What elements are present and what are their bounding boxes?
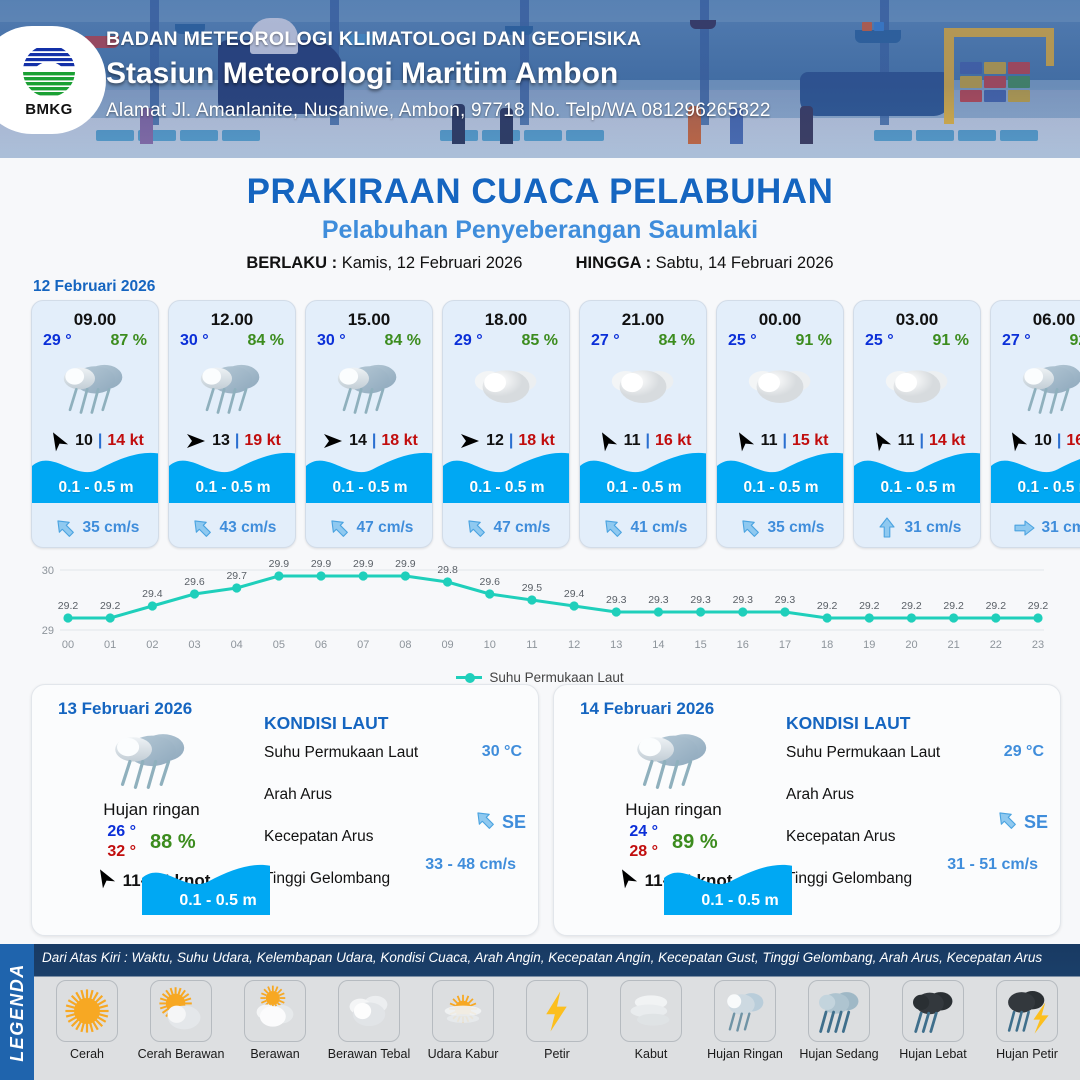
card-wave-height: 0.1 - 0.5 m bbox=[854, 479, 981, 497]
sun-cloud-icon bbox=[150, 980, 212, 1042]
sst-value: 29 °C bbox=[1004, 743, 1044, 761]
svg-text:21: 21 bbox=[948, 639, 960, 651]
card-air-temperature: 25 ° bbox=[865, 332, 894, 350]
card-time: 09.00 bbox=[32, 310, 158, 330]
legend-item: Hujan Petir bbox=[980, 980, 1074, 1061]
svg-text:29.2: 29.2 bbox=[986, 600, 1007, 612]
panel-temp-min: 24 ° bbox=[629, 823, 658, 841]
sst-label: Suhu Permukaan Laut bbox=[786, 744, 940, 762]
hourly-card: 06.00 27 ° 92 % bbox=[990, 300, 1080, 548]
legend-item-label: Cerah bbox=[70, 1047, 104, 1061]
svg-text:00: 00 bbox=[62, 639, 74, 651]
card-current-speed: 47 cm/s bbox=[357, 519, 414, 537]
legend-item-label: Berawan Tebal bbox=[328, 1047, 410, 1061]
card-current-row: 31 cm/s bbox=[854, 516, 981, 540]
sst-row: Suhu Permukaan Laut 30 °C bbox=[264, 738, 530, 780]
valid-from-value: Kamis, 12 Februari 2026 bbox=[342, 254, 523, 272]
svg-text:05: 05 bbox=[273, 639, 285, 651]
svg-text:07: 07 bbox=[357, 639, 369, 651]
card-wave-block: 0.1 - 0.5 m bbox=[169, 447, 296, 503]
card-air-temperature: 29 ° bbox=[43, 332, 72, 350]
legend-side-text: LEGENDA bbox=[7, 963, 28, 1062]
haze-icon bbox=[432, 980, 494, 1042]
card-current-speed: 35 cm/s bbox=[83, 519, 140, 537]
svg-text:14: 14 bbox=[652, 639, 664, 651]
chart-legend: Suhu Permukaan Laut bbox=[0, 670, 1080, 685]
legend-items: Cerah Cerah Berawan Berawan Berawan Teba… bbox=[40, 980, 1074, 1061]
card-humidity: 84 % bbox=[248, 332, 284, 350]
panel-date: 13 Februari 2026 bbox=[58, 699, 192, 719]
card-temp-hum-row: 29 ° 87 % bbox=[32, 330, 158, 350]
svg-text:29.6: 29.6 bbox=[184, 576, 205, 588]
legend-caption: Dari Atas Kiri : Waktu, Suhu Udara, Kele… bbox=[42, 950, 1072, 965]
svg-text:29.2: 29.2 bbox=[1028, 600, 1049, 612]
current-direction-arrow-icon bbox=[53, 516, 77, 540]
hourly-card: 15.00 30 ° 84 % bbox=[305, 300, 433, 548]
legend-body: Dari Atas Kiri : Waktu, Suhu Udara, Kele… bbox=[34, 944, 1080, 1080]
legend-item: Hujan Ringan bbox=[698, 980, 792, 1061]
card-humidity: 84 % bbox=[385, 332, 421, 350]
card-air-temperature: 30 ° bbox=[180, 332, 209, 350]
legend-item-label: Hujan Sedang bbox=[799, 1047, 878, 1061]
panel-weather-icon bbox=[44, 723, 259, 797]
card-weather-icon bbox=[306, 351, 432, 425]
thunderstorm-icon bbox=[996, 980, 1058, 1042]
hourly-card: 21.00 27 ° 84 % 11 | 16 kt 0.1 - 0.5 m bbox=[579, 300, 707, 548]
page-subtitle: Pelabuhan Penyeberangan Saumlaki bbox=[0, 216, 1080, 245]
panel-weather-icon bbox=[566, 723, 781, 797]
current-direction-arrow-icon bbox=[601, 516, 625, 540]
svg-text:29.6: 29.6 bbox=[480, 576, 501, 588]
svg-text:13: 13 bbox=[610, 639, 622, 651]
sst-row: Suhu Permukaan Laut 29 °C bbox=[786, 738, 1052, 780]
legend-item: Cerah Berawan bbox=[134, 980, 228, 1061]
legend-item: Petir bbox=[510, 980, 604, 1061]
card-time: 00.00 bbox=[717, 310, 843, 330]
bmkg-logo-text: BMKG bbox=[25, 101, 72, 118]
current-direction-arrow-icon bbox=[1012, 516, 1036, 540]
card-wave-block: 0.1 - 0.5 m bbox=[306, 447, 433, 503]
svg-text:29.2: 29.2 bbox=[817, 600, 838, 612]
legend-item-label: Petir bbox=[544, 1047, 570, 1061]
card-humidity: 84 % bbox=[659, 332, 695, 350]
svg-text:29.9: 29.9 bbox=[269, 558, 290, 570]
card-temp-hum-row: 25 ° 91 % bbox=[854, 330, 980, 350]
svg-text:29.4: 29.4 bbox=[142, 588, 163, 600]
chart-legend-marker bbox=[456, 676, 482, 679]
card-weather-icon bbox=[717, 351, 843, 425]
svg-text:30: 30 bbox=[42, 565, 54, 577]
current-direction-arrow-icon bbox=[738, 516, 762, 540]
panel-date: 14 Februari 2026 bbox=[580, 699, 714, 719]
card-air-temperature: 27 ° bbox=[1002, 332, 1031, 350]
legend-item: Hujan Sedang bbox=[792, 980, 886, 1061]
card-wave-block: 0.1 - 0.5 m bbox=[443, 447, 570, 503]
svg-text:29.9: 29.9 bbox=[353, 558, 374, 570]
panel-temp-column: 26 ° 32 ° bbox=[107, 823, 136, 861]
svg-text:29.7: 29.7 bbox=[226, 570, 247, 582]
chart-legend-label: Suhu Permukaan Laut bbox=[489, 670, 623, 685]
svg-text:29.3: 29.3 bbox=[606, 594, 627, 606]
card-wave-block: 0.1 - 0.5 m bbox=[32, 447, 159, 503]
hourly-card: 18.00 29 ° 85 % 12 | 18 kt 0.1 - 0.5 m bbox=[442, 300, 570, 548]
current-speed-label: Kecepatan Arus bbox=[786, 828, 895, 846]
card-air-temperature: 27 ° bbox=[591, 332, 620, 350]
legend-item-label: Hujan Ringan bbox=[707, 1047, 783, 1061]
card-current-row: 47 cm/s bbox=[443, 516, 570, 540]
sea-conditions-title: KONDISI LAUT bbox=[786, 713, 1052, 734]
card-current-row: 35 cm/s bbox=[32, 516, 159, 540]
svg-text:03: 03 bbox=[188, 639, 200, 651]
legend-item-label: Berawan bbox=[250, 1047, 299, 1061]
panel-temps-row: 24 ° 28 ° 89 % bbox=[566, 823, 781, 861]
svg-text:19: 19 bbox=[863, 639, 875, 651]
card-time: 06.00 bbox=[991, 310, 1080, 330]
svg-text:02: 02 bbox=[146, 639, 158, 651]
hourly-card: 09.00 29 ° 87 % bbox=[31, 300, 159, 548]
svg-text:18: 18 bbox=[821, 639, 833, 651]
bmkg-logo: BMKG bbox=[0, 26, 106, 134]
sst-value: 30 °C bbox=[482, 743, 522, 761]
card-wave-height: 0.1 - 0.5 m bbox=[580, 479, 707, 497]
card-time: 15.00 bbox=[306, 310, 432, 330]
current-direction-row: Arah Arus SE bbox=[786, 780, 1052, 822]
panel-condition-label: Hujan ringan bbox=[44, 800, 259, 820]
card-current-row: 47 cm/s bbox=[306, 516, 433, 540]
card-time: 12.00 bbox=[169, 310, 295, 330]
title-block: PRAKIRAAN CUACA PELABUHAN Pelabuhan Peny… bbox=[0, 158, 1080, 273]
panel-condition-label: Hujan ringan bbox=[566, 800, 781, 820]
hourly-forecast-cards: 09.00 29 ° 87 % bbox=[31, 300, 1080, 548]
svg-text:29.4: 29.4 bbox=[564, 588, 585, 600]
svg-text:20: 20 bbox=[905, 639, 917, 651]
card-time: 18.00 bbox=[443, 310, 569, 330]
svg-text:15: 15 bbox=[694, 639, 706, 651]
svg-text:11: 11 bbox=[526, 639, 537, 651]
card-current-speed: 35 cm/s bbox=[768, 519, 825, 537]
wind-direction-arrow-icon bbox=[93, 867, 117, 894]
svg-text:29.3: 29.3 bbox=[733, 594, 754, 606]
card-air-temperature: 30 ° bbox=[317, 332, 346, 350]
legend-item: Udara Kabur bbox=[416, 980, 510, 1061]
panel-temp-max: 28 ° bbox=[629, 843, 658, 861]
legend-item-label: Hujan Petir bbox=[996, 1047, 1058, 1061]
svg-text:29.9: 29.9 bbox=[395, 558, 416, 570]
card-temp-hum-row: 30 ° 84 % bbox=[169, 330, 295, 350]
svg-text:29.2: 29.2 bbox=[859, 600, 880, 612]
valid-from-label: BERLAKU : bbox=[246, 254, 337, 272]
svg-text:29.2: 29.2 bbox=[901, 600, 922, 612]
legend-item-label: Hujan Lebat bbox=[899, 1047, 966, 1061]
panel-wave-block: 0.1 - 0.5 m bbox=[142, 863, 294, 915]
card-wave-block: 0.1 - 0.5 m bbox=[717, 447, 844, 503]
card-time: 03.00 bbox=[854, 310, 980, 330]
svg-text:29.3: 29.3 bbox=[690, 594, 711, 606]
card-wave-block: 0.1 - 0.5 m bbox=[580, 447, 707, 503]
sun-icon bbox=[56, 980, 118, 1042]
card-humidity: 92 % bbox=[1070, 332, 1080, 350]
page-header: BMKG BADAN METEOROLOGI KLIMATOLOGI DAN G… bbox=[0, 0, 1080, 158]
header-text-block: BADAN METEOROLOGI KLIMATOLOGI DAN GEOFIS… bbox=[106, 28, 771, 122]
daily-forecast-panels: 13 Februari 2026 Hujan ringan bbox=[31, 684, 1061, 936]
panel-temp-min: 26 ° bbox=[107, 823, 136, 841]
panel-humidity: 89 % bbox=[672, 831, 718, 854]
svg-text:29: 29 bbox=[42, 625, 54, 637]
panel-wave-height-value: 0.1 - 0.5 m bbox=[142, 892, 294, 910]
card-wave-height: 0.1 - 0.5 m bbox=[717, 479, 844, 497]
svg-text:29.5: 29.5 bbox=[522, 582, 543, 594]
svg-text:06: 06 bbox=[315, 639, 327, 651]
valid-until-label: HINGGA : bbox=[576, 254, 651, 272]
card-humidity: 85 % bbox=[522, 332, 558, 350]
card-current-speed: 31 cm/s bbox=[905, 519, 962, 537]
agency-name: BADAN METEOROLOGI KLIMATOLOGI DAN GEOFIS… bbox=[106, 28, 771, 51]
svg-text:04: 04 bbox=[231, 639, 243, 651]
panel-humidity: 88 % bbox=[150, 831, 196, 854]
card-humidity: 91 % bbox=[796, 332, 832, 350]
light-rain-icon bbox=[714, 980, 776, 1042]
cloud-sun-small-icon bbox=[244, 980, 306, 1042]
clouds-icon bbox=[338, 980, 400, 1042]
card-current-row: 31 cm/s bbox=[991, 516, 1080, 540]
legend-side-label: LEGENDA bbox=[0, 944, 34, 1080]
panel-wave-block: 0.1 - 0.5 m bbox=[664, 863, 816, 915]
card-wave-height: 0.1 - 0.5 m bbox=[32, 479, 159, 497]
daily-forecast-panel: 13 Februari 2026 Hujan ringan bbox=[31, 684, 539, 936]
card-current-speed: 47 cm/s bbox=[494, 519, 551, 537]
current-direction-arrow-icon bbox=[327, 516, 351, 540]
card-current-row: 35 cm/s bbox=[717, 516, 844, 540]
svg-text:16: 16 bbox=[737, 639, 749, 651]
sst-chart: 293029.20029.20129.40229.60329.70429.905… bbox=[28, 556, 1052, 676]
svg-text:29.3: 29.3 bbox=[648, 594, 669, 606]
current-direction-label: Arah Arus bbox=[786, 786, 854, 804]
svg-text:29.3: 29.3 bbox=[775, 594, 796, 606]
card-temp-hum-row: 27 ° 92 % bbox=[991, 330, 1080, 350]
card-temp-hum-row: 29 ° 85 % bbox=[443, 330, 569, 350]
panel-sea-conditions: KONDISI LAUT Suhu Permukaan Laut 30 °C A… bbox=[264, 713, 530, 906]
current-direction-label: Arah Arus bbox=[264, 786, 332, 804]
card-wave-height: 0.1 - 0.5 m bbox=[443, 479, 570, 497]
bmkg-logo-mark bbox=[20, 42, 78, 100]
svg-text:29.2: 29.2 bbox=[943, 600, 964, 612]
validity-line: BERLAKU : Kamis, 12 Februari 2026 HINGGA… bbox=[0, 254, 1080, 273]
svg-text:29.8: 29.8 bbox=[437, 564, 458, 576]
legend-item: Berawan bbox=[228, 980, 322, 1061]
card-current-speed: 43 cm/s bbox=[220, 519, 277, 537]
svg-text:01: 01 bbox=[104, 639, 116, 651]
current-speed-label: Kecepatan Arus bbox=[264, 828, 373, 846]
svg-text:29.2: 29.2 bbox=[100, 600, 121, 612]
svg-text:09: 09 bbox=[441, 639, 453, 651]
card-humidity: 91 % bbox=[933, 332, 969, 350]
card-temp-hum-row: 30 ° 84 % bbox=[306, 330, 432, 350]
card-air-temperature: 29 ° bbox=[454, 332, 483, 350]
card-current-row: 43 cm/s bbox=[169, 516, 296, 540]
card-time: 21.00 bbox=[580, 310, 706, 330]
legend-item: Berawan Tebal bbox=[322, 980, 416, 1061]
moderate-rain-icon bbox=[808, 980, 870, 1042]
svg-text:17: 17 bbox=[779, 639, 791, 651]
legend-item: Cerah bbox=[40, 980, 134, 1061]
daily-forecast-panel: 14 Februari 2026 Hujan ringan bbox=[553, 684, 1061, 936]
station-address: Alamat Jl. Amanlanite, Nusaniwe, Ambon, … bbox=[106, 100, 771, 122]
card-wave-block: 0.1 - 0.5 m bbox=[854, 447, 981, 503]
legend-item-label: Cerah Berawan bbox=[138, 1047, 225, 1061]
hourly-date-label: 12 Februari 2026 bbox=[33, 278, 155, 296]
wave-height-row: Tinggi Gelombang bbox=[786, 864, 1052, 906]
svg-text:29.9: 29.9 bbox=[311, 558, 332, 570]
card-current-row: 41 cm/s bbox=[580, 516, 707, 540]
svg-text:08: 08 bbox=[399, 639, 411, 651]
page-title: PRAKIRAAN CUACA PELABUHAN bbox=[0, 172, 1080, 212]
card-weather-icon bbox=[580, 351, 706, 425]
current-speed-row: Kecepatan Arus 31 - 51 cm/s bbox=[786, 822, 1052, 864]
card-weather-icon bbox=[991, 351, 1080, 425]
card-current-speed: 31 cm/s bbox=[1042, 519, 1080, 537]
legend-item: Hujan Lebat bbox=[886, 980, 980, 1061]
lightning-icon bbox=[526, 980, 588, 1042]
current-direction-arrow-icon bbox=[190, 516, 214, 540]
svg-text:22: 22 bbox=[990, 639, 1002, 651]
card-weather-icon bbox=[443, 351, 569, 425]
heavy-rain-icon bbox=[902, 980, 964, 1042]
hourly-card: 00.00 25 ° 91 % 11 | 15 kt 0.1 - 0.5 m bbox=[716, 300, 844, 548]
card-weather-icon bbox=[854, 351, 980, 425]
wave-height-row: Tinggi Gelombang bbox=[264, 864, 530, 906]
panel-sea-conditions: KONDISI LAUT Suhu Permukaan Laut 29 °C A… bbox=[786, 713, 1052, 906]
card-wave-height: 0.1 - 0.5 m bbox=[306, 479, 433, 497]
hourly-card: 12.00 30 ° 84 % bbox=[168, 300, 296, 548]
fog-icon bbox=[620, 980, 682, 1042]
station-name: Stasiun Meteorologi Maritim Ambon bbox=[106, 57, 771, 91]
sea-conditions-title: KONDISI LAUT bbox=[264, 713, 530, 734]
wind-direction-arrow-icon bbox=[615, 867, 639, 894]
current-direction-arrow-icon bbox=[875, 516, 899, 540]
svg-text:23: 23 bbox=[1032, 639, 1044, 651]
svg-text:12: 12 bbox=[568, 639, 580, 651]
card-weather-icon bbox=[32, 351, 158, 425]
current-direction-row: Arah Arus SE bbox=[264, 780, 530, 822]
panel-wave-height-value: 0.1 - 0.5 m bbox=[664, 892, 816, 910]
card-air-temperature: 25 ° bbox=[728, 332, 757, 350]
sst-label: Suhu Permukaan Laut bbox=[264, 744, 418, 762]
legend-section: LEGENDA Dari Atas Kiri : Waktu, Suhu Uda… bbox=[0, 944, 1080, 1080]
card-wave-block: 0.1 - 0.5 m bbox=[991, 447, 1080, 503]
current-direction-arrow-icon bbox=[464, 516, 488, 540]
panel-temp-column: 24 ° 28 ° bbox=[629, 823, 658, 861]
panel-temps-row: 26 ° 32 ° 88 % bbox=[44, 823, 259, 861]
card-temp-hum-row: 27 ° 84 % bbox=[580, 330, 706, 350]
svg-text:10: 10 bbox=[484, 639, 496, 651]
card-temp-hum-row: 25 ° 91 % bbox=[717, 330, 843, 350]
legend-item-label: Udara Kabur bbox=[428, 1047, 499, 1061]
legend-item-label: Kabut bbox=[635, 1047, 668, 1061]
card-humidity: 87 % bbox=[111, 332, 147, 350]
card-weather-icon bbox=[169, 351, 295, 425]
legend-item: Kabut bbox=[604, 980, 698, 1061]
card-wave-height: 0.1 - 0.5 m bbox=[991, 479, 1080, 497]
panel-temp-max: 32 ° bbox=[107, 843, 136, 861]
hourly-card: 03.00 25 ° 91 % 11 | 14 kt 0.1 - 0.5 m bbox=[853, 300, 981, 548]
valid-until-value: Sabtu, 14 Februari 2026 bbox=[656, 254, 834, 272]
card-current-speed: 41 cm/s bbox=[631, 519, 688, 537]
svg-text:29.2: 29.2 bbox=[58, 600, 79, 612]
current-speed-row: Kecepatan Arus 33 - 48 cm/s bbox=[264, 822, 530, 864]
card-wave-height: 0.1 - 0.5 m bbox=[169, 479, 296, 497]
